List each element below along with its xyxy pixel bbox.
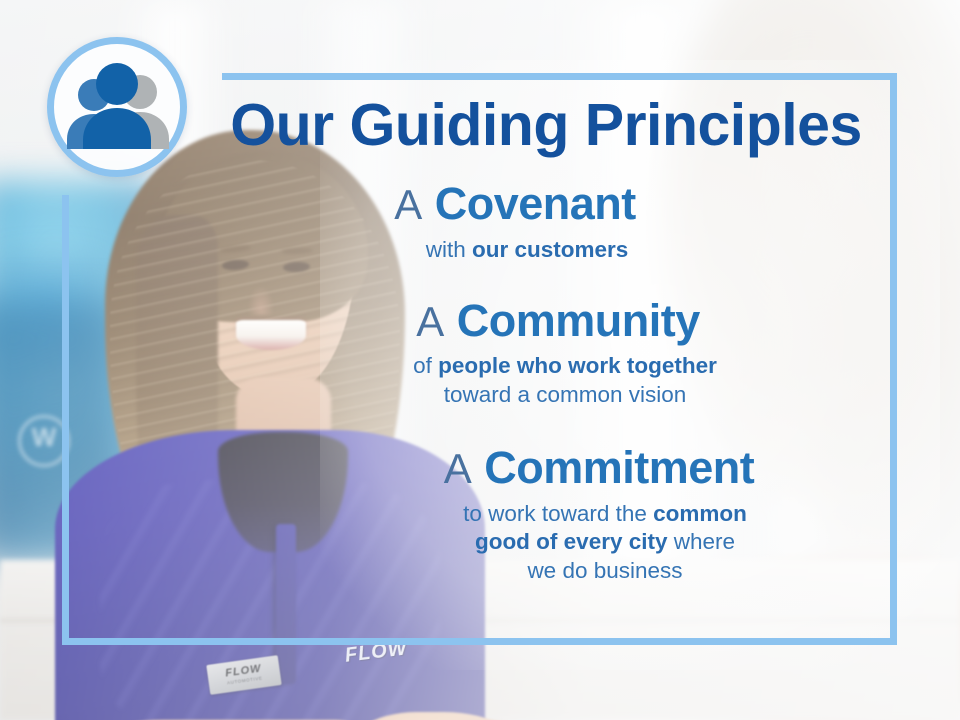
principles-list: A Covenant with our customers A Communit… [200,176,890,590]
plain-text: toward a common vision [444,382,687,407]
principle-noun: Commitment [484,442,754,493]
plain-text: to work toward the [463,501,653,526]
principle-article: A [394,181,422,228]
principle-description: to work toward the commongood of every c… [200,500,890,586]
principle-description: of people who work togethertoward a comm… [200,352,890,410]
plain-text: of [413,353,438,378]
principle-description-line: to work toward the common [320,500,890,529]
principle-description-line: with our customers [200,236,854,265]
plain-text: with [426,237,472,262]
principle-description-line: we do business [320,557,890,586]
principle-heading: A Commitment [200,442,890,494]
emphasis-text: people who work together [438,353,717,378]
page-title: Our Guiding Principles [206,96,886,155]
emphasis-text: common [653,501,747,526]
guiding-principles-banner: FLOW AUTOMOTIVE FLOW [0,0,960,720]
principle-article: A [444,445,472,492]
plain-text: where [668,529,736,554]
principle-item: A Commitment to work toward the commongo… [200,442,890,586]
principle-item: A Covenant with our customers [200,178,890,265]
principle-description-line: toward a common vision [240,381,890,410]
principle-description-line: good of every city where [320,528,890,557]
people-group-icon [54,44,180,170]
plain-text: we do business [527,558,682,583]
principle-item: A Community of people who work togethert… [200,295,890,410]
principle-noun: Covenant [435,178,636,229]
emphasis-text: good of every city [475,529,668,554]
principle-description: with our customers [200,236,890,265]
people-icon-badge [47,37,187,177]
principle-noun: Community [457,295,700,346]
principle-heading: A Covenant [200,178,890,230]
principle-heading: A Community [200,295,890,347]
principle-article: A [416,298,444,345]
emphasis-text: our customers [472,237,628,262]
principle-description-line: of people who work together [240,352,890,381]
